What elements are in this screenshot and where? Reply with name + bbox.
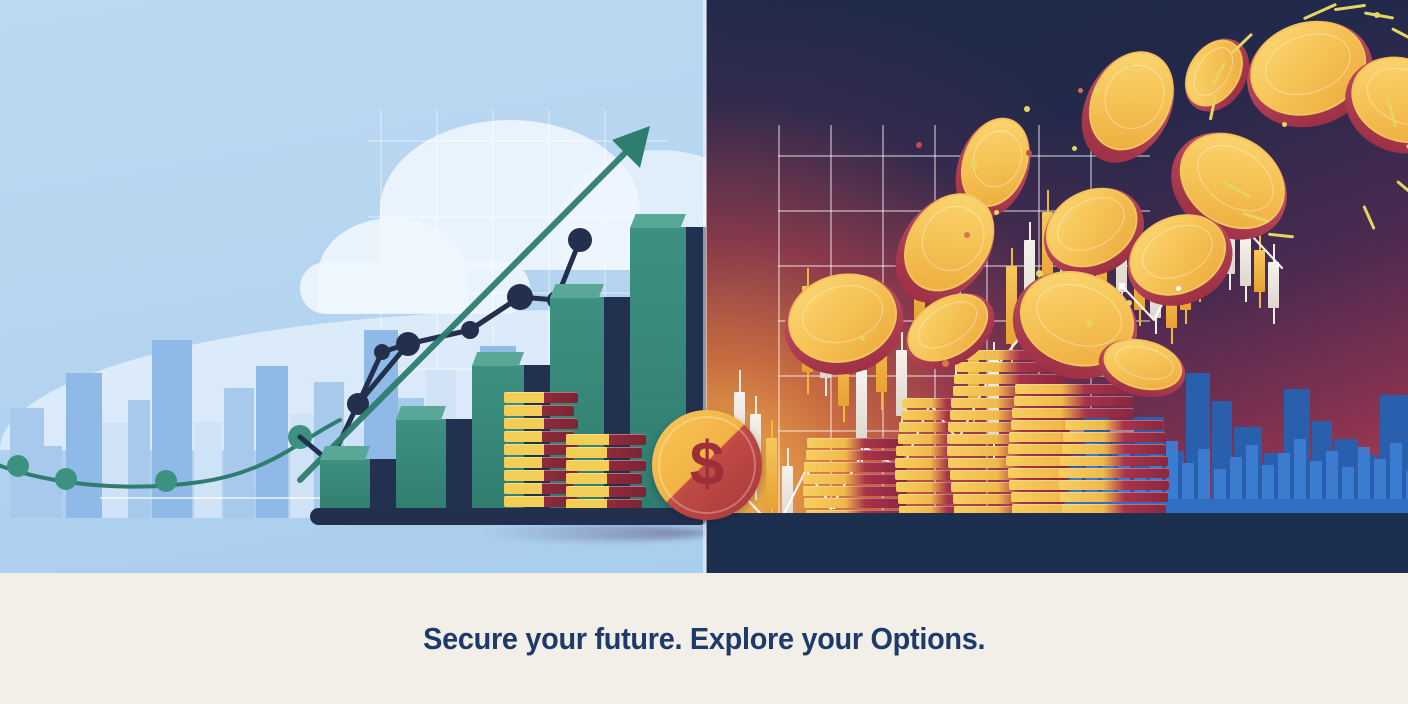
sparkle-dot [1024, 106, 1030, 112]
coin-mound [802, 438, 908, 522]
bar [396, 419, 446, 515]
coin-mound-row [1060, 492, 1168, 502]
coin-mound-row [1062, 444, 1167, 454]
sparkle-dot [1126, 62, 1131, 67]
promotional-banner: $ Secure your future. Explore your Optio… [0, 0, 1408, 704]
sparkle-dot [1126, 300, 1132, 306]
coin-mound-row [803, 486, 908, 496]
coin-mound [1058, 420, 1170, 528]
coin-row [504, 392, 578, 403]
platform-bar [310, 508, 706, 525]
coin-inner-ring [796, 277, 890, 351]
right-floor [706, 513, 1408, 573]
coin-row [566, 486, 646, 497]
coin-mound-row [1012, 408, 1134, 418]
sparkle-dot [1176, 286, 1181, 291]
tagline-text: Secure your future. Explore your Options… [423, 620, 985, 657]
sparkle-dot [1078, 88, 1083, 93]
footer-band: Secure your future. Explore your Options… [0, 573, 1408, 704]
sparkle-dot [860, 336, 865, 341]
sparkle-dot [994, 210, 999, 215]
bar-side [370, 459, 396, 515]
sparkle-dot [1374, 12, 1380, 18]
sparkle-dot [916, 142, 922, 148]
coin-mound-row [1065, 420, 1164, 430]
right-panel-options [706, 0, 1408, 573]
coin-inner-ring [965, 123, 1030, 194]
sparkle-dot [970, 160, 978, 168]
coin-mound-row [1060, 456, 1168, 466]
coin-mound-row [1014, 396, 1133, 406]
dollar-coin-icon: $ [652, 410, 762, 520]
left-panel-secure-growth [0, 0, 706, 573]
bar-face [320, 459, 370, 515]
sparkle-dot [1282, 122, 1287, 127]
coin-mound-row [803, 474, 908, 484]
bar-side [446, 419, 472, 515]
coin-mound-row [1059, 468, 1170, 478]
coin-mound-row [1063, 432, 1165, 442]
dollar-symbol: $ [652, 410, 762, 520]
coin-mound-row [807, 438, 903, 448]
sparkle-dot [1086, 320, 1093, 327]
bar-top [550, 284, 604, 298]
coin-mound-row [804, 498, 906, 508]
sparkle-dot [942, 360, 949, 367]
coin-row [566, 460, 646, 471]
coin-mound-row [954, 374, 1064, 384]
coin-inner-ring [1133, 214, 1221, 289]
sparkle-dot [964, 232, 970, 238]
coin-mound-row [804, 462, 906, 472]
bar-top [320, 446, 370, 460]
bar-top [472, 352, 524, 366]
bar-top [396, 406, 446, 420]
coin-row [566, 473, 642, 484]
coin-stack [566, 434, 646, 512]
coin-mound-row [1059, 480, 1170, 490]
bar-face [396, 419, 446, 515]
coin-row [566, 447, 642, 458]
coin-row [566, 434, 646, 445]
platform-shadow [480, 525, 706, 541]
coin-row [504, 457, 574, 468]
sparkle-dot [1026, 150, 1032, 156]
bar [320, 459, 370, 515]
coin-row [504, 483, 574, 494]
coin-row [504, 405, 574, 416]
coin-row [504, 431, 574, 442]
sparkle-dot [1094, 88, 1101, 95]
sparkle-dot [1036, 270, 1043, 277]
bar-top [630, 214, 686, 228]
sparkle-dot [1072, 146, 1077, 151]
coin-row [504, 418, 578, 429]
coin-mound-row [806, 450, 905, 460]
coin-inner-ring [1359, 58, 1408, 135]
